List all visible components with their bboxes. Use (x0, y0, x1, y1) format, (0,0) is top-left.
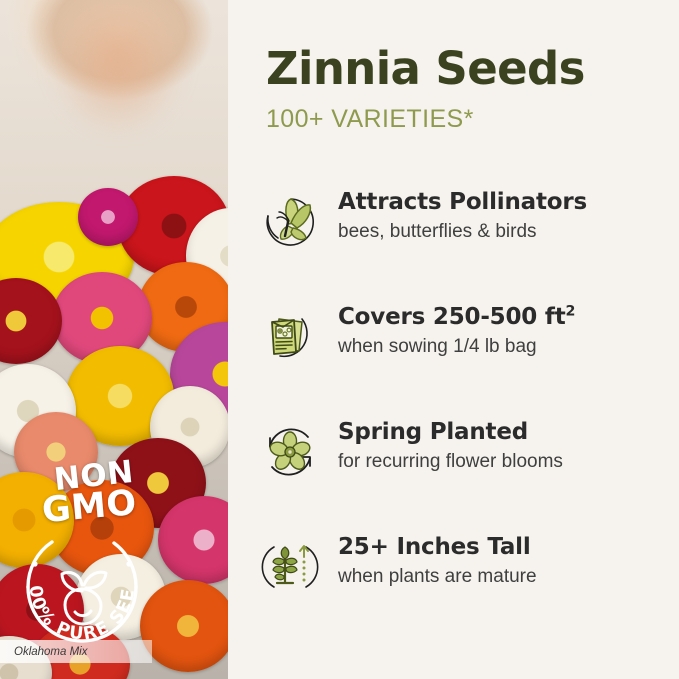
feature-text: Attracts Pollinators bees, butterflies &… (338, 188, 587, 244)
zinnia-bouquet-photo: NON GMO (0, 0, 228, 679)
feature-item-height: 25+ Inches Tall when plants are mature (258, 531, 678, 646)
flower-recycle-icon (258, 420, 322, 484)
feature-heading-text: Covers 250-500 ft (338, 304, 566, 330)
seal-text: 100% PURE SEED (12, 517, 139, 645)
feature-subtext: when plants are mature (338, 565, 537, 590)
feature-item-coverage: Covers 250-500 ft2 when sowing 1/4 lb ba… (258, 301, 678, 416)
page-subtitle: 100+ VARIETIES* (266, 107, 474, 132)
flower-magenta-small (78, 188, 138, 246)
feature-heading: 25+ Inches Tall (338, 533, 537, 562)
feature-heading: Covers 250-500 ft2 (338, 303, 575, 332)
feature-item-spring-planted: Spring Planted for recurring flower bloo… (258, 416, 678, 531)
feature-subtext: when sowing 1/4 lb bag (338, 335, 575, 360)
info-panel: Zinnia Seeds 100+ VARIETIES* (228, 0, 679, 679)
pure-seed-seal: 100% PURE SEED (12, 517, 152, 657)
feature-subtext: bees, butterflies & birds (338, 220, 587, 245)
photo-caption: Oklahoma Mix (0, 640, 152, 663)
feature-text: Covers 250-500 ft2 when sowing 1/4 lb ba… (338, 303, 575, 359)
feature-item-pollinators: Attracts Pollinators bees, butterflies &… (258, 186, 678, 301)
photo-caption-text: Oklahoma Mix (0, 646, 88, 658)
feature-list: Attracts Pollinators bees, butterflies &… (258, 186, 678, 646)
seed-packets-icon (258, 305, 322, 369)
page-title: Zinnia Seeds (266, 46, 585, 91)
butterfly-icon (258, 190, 322, 254)
non-gmo-badge: NON GMO (6, 455, 166, 635)
feature-heading-superscript: 2 (566, 303, 576, 319)
feature-text: 25+ Inches Tall when plants are mature (338, 533, 537, 589)
plant-height-icon (258, 535, 322, 599)
product-infographic: NON GMO (0, 0, 679, 679)
feature-heading: Attracts Pollinators (338, 188, 587, 217)
feature-subtext: for recurring flower blooms (338, 450, 563, 475)
feature-heading: Spring Planted (338, 418, 563, 447)
svg-text:100% PURE SEED: 100% PURE SEED (12, 517, 139, 645)
feature-text: Spring Planted for recurring flower bloo… (338, 418, 563, 474)
